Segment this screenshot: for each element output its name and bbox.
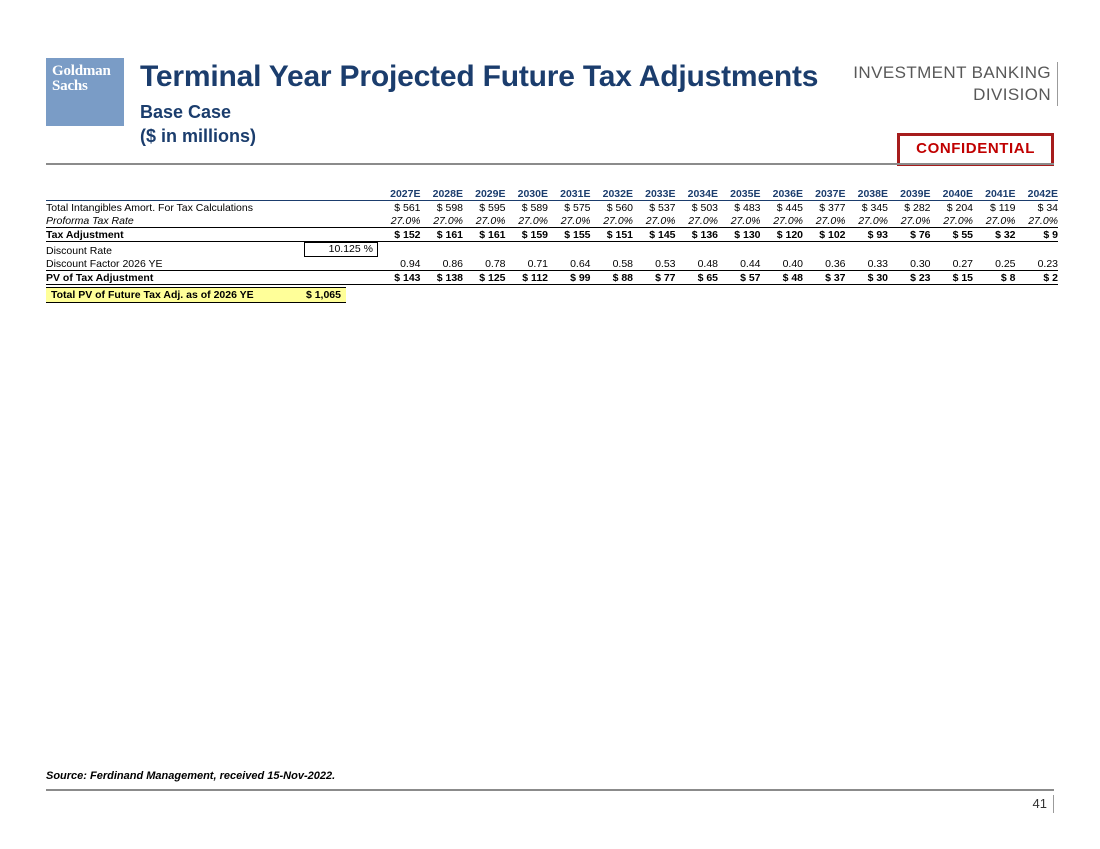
row-value: $ 152 bbox=[378, 228, 421, 242]
row-value bbox=[973, 242, 1016, 258]
row-value: $ 93 bbox=[846, 228, 889, 242]
row-value: 27.0% bbox=[931, 214, 974, 228]
row-value bbox=[1016, 242, 1059, 258]
division-label: INVESTMENT BANKING DIVISION bbox=[853, 62, 1058, 106]
row-value: $ 204 bbox=[931, 201, 974, 215]
row-label: Proforma Tax Rate bbox=[46, 214, 294, 228]
row-value: 0.78 bbox=[463, 257, 506, 271]
row-value: $ 136 bbox=[676, 228, 719, 242]
page-units-label: ($ in millions) bbox=[140, 124, 860, 148]
row-value: $ 88 bbox=[591, 271, 634, 285]
source-footnote: Source: Ferdinand Management, received 1… bbox=[46, 770, 335, 782]
row-input-spacer bbox=[294, 228, 378, 242]
tax-adjustment-table: 2027E 2028E 2029E 2030E 2031E 2032E 2033… bbox=[46, 188, 1058, 285]
column-header-year: 2033E bbox=[633, 188, 676, 201]
row-value: $ 9 bbox=[1016, 228, 1059, 242]
row-input-spacer bbox=[294, 201, 378, 215]
row-value: $ 445 bbox=[761, 201, 804, 215]
row-value bbox=[676, 242, 719, 258]
row-value: 0.40 bbox=[761, 257, 804, 271]
row-value: $ 30 bbox=[846, 271, 889, 285]
footer-divider bbox=[46, 789, 1054, 791]
page-subtitle: Base Case bbox=[140, 100, 860, 124]
table-header-row: 2027E 2028E 2029E 2030E 2031E 2032E 2033… bbox=[46, 188, 1058, 201]
row-value: 27.0% bbox=[718, 214, 761, 228]
row-value bbox=[761, 242, 804, 258]
confidential-label: CONFIDENTIAL bbox=[916, 140, 1035, 157]
row-value: 27.0% bbox=[506, 214, 549, 228]
row-value bbox=[633, 242, 676, 258]
row-value bbox=[803, 242, 846, 258]
row-value: 0.53 bbox=[633, 257, 676, 271]
row-value: $ 2 bbox=[1016, 271, 1059, 285]
row-value: 27.0% bbox=[633, 214, 676, 228]
column-header-year: 2030E bbox=[506, 188, 549, 201]
column-header-year: 2035E bbox=[718, 188, 761, 201]
column-header-year: 2028E bbox=[421, 188, 464, 201]
row-value: $ 377 bbox=[803, 201, 846, 215]
row-value: 0.30 bbox=[888, 257, 931, 271]
row-value: 0.44 bbox=[718, 257, 761, 271]
row-value bbox=[846, 242, 889, 258]
slide-header: Goldman Sachs Terminal Year Projected Fu… bbox=[0, 0, 1100, 170]
column-header-year: 2041E bbox=[973, 188, 1016, 201]
row-value: $ 143 bbox=[378, 271, 421, 285]
row-value: $ 282 bbox=[888, 201, 931, 215]
row-value bbox=[931, 242, 974, 258]
logo-text-line1: Goldman bbox=[46, 58, 124, 79]
column-header-year: 2036E bbox=[761, 188, 804, 201]
column-header-year: 2037E bbox=[803, 188, 846, 201]
header-spacer-label bbox=[46, 188, 294, 201]
column-header-year: 2038E bbox=[846, 188, 889, 201]
row-value: $ 112 bbox=[506, 271, 549, 285]
row-value: 0.25 bbox=[973, 257, 1016, 271]
row-value: $ 76 bbox=[888, 228, 931, 242]
row-value: 0.23 bbox=[1016, 257, 1059, 271]
division-line-1: INVESTMENT BANKING bbox=[853, 62, 1051, 84]
row-value: $ 55 bbox=[931, 228, 974, 242]
row-value bbox=[718, 242, 761, 258]
row-value: $ 155 bbox=[548, 228, 591, 242]
column-header-year: 2040E bbox=[931, 188, 974, 201]
header-divider bbox=[46, 163, 1054, 165]
row-value: $ 345 bbox=[846, 201, 889, 215]
row-value: $ 130 bbox=[718, 228, 761, 242]
column-header-year: 2039E bbox=[888, 188, 931, 201]
row-value: $ 99 bbox=[548, 271, 591, 285]
row-value: $ 125 bbox=[463, 271, 506, 285]
row-value: $ 151 bbox=[591, 228, 634, 242]
row-value: 27.0% bbox=[973, 214, 1016, 228]
row-value: $ 37 bbox=[803, 271, 846, 285]
column-header-year: 2029E bbox=[463, 188, 506, 201]
row-value: $ 483 bbox=[718, 201, 761, 215]
column-header-year: 2031E bbox=[548, 188, 591, 201]
row-value: 27.0% bbox=[803, 214, 846, 228]
division-line-2: DIVISION bbox=[853, 84, 1051, 106]
column-header-year: 2034E bbox=[676, 188, 719, 201]
row-value: $ 161 bbox=[421, 228, 464, 242]
row-value: 27.0% bbox=[888, 214, 931, 228]
row-value: 0.94 bbox=[378, 257, 421, 271]
row-label: Tax Adjustment bbox=[46, 228, 294, 242]
total-pv-summary-box: Total PV of Future Tax Adj. as of 2026 Y… bbox=[46, 287, 346, 303]
table-row: Total Intangibles Amort. For Tax Calcula… bbox=[46, 201, 1058, 215]
page-title: Terminal Year Projected Future Tax Adjus… bbox=[140, 60, 860, 94]
row-value bbox=[888, 242, 931, 258]
row-value: $ 161 bbox=[463, 228, 506, 242]
row-input-spacer bbox=[294, 271, 378, 285]
row-input-spacer bbox=[294, 257, 378, 271]
row-value bbox=[548, 242, 591, 258]
row-value: $ 34 bbox=[1016, 201, 1059, 215]
row-value: 0.64 bbox=[548, 257, 591, 271]
row-value: 0.48 bbox=[676, 257, 719, 271]
goldman-sachs-logo: Goldman Sachs bbox=[46, 58, 124, 126]
row-value: $ 77 bbox=[633, 271, 676, 285]
row-value: $ 65 bbox=[676, 271, 719, 285]
row-value: 27.0% bbox=[591, 214, 634, 228]
row-label: Total Intangibles Amort. For Tax Calcula… bbox=[46, 201, 294, 215]
row-value: $ 561 bbox=[378, 201, 421, 215]
row-value: $ 8 bbox=[973, 271, 1016, 285]
row-value: $ 145 bbox=[633, 228, 676, 242]
row-value bbox=[378, 242, 421, 258]
financial-table-container: 2027E 2028E 2029E 2030E 2031E 2032E 2033… bbox=[46, 188, 1058, 285]
row-value: 27.0% bbox=[761, 214, 804, 228]
discount-rate-input-cell: 10.125 % bbox=[294, 242, 378, 258]
row-value: $ 575 bbox=[548, 201, 591, 215]
row-value: 0.71 bbox=[506, 257, 549, 271]
row-value: $ 48 bbox=[761, 271, 804, 285]
logo-text-line2: Sachs bbox=[46, 79, 124, 94]
column-header-year: 2032E bbox=[591, 188, 634, 201]
total-pv-label: Total PV of Future Tax Adj. as of 2026 Y… bbox=[51, 288, 254, 302]
row-value: $ 23 bbox=[888, 271, 931, 285]
header-spacer-input bbox=[294, 188, 378, 201]
total-pv-value: $ 1,065 bbox=[306, 288, 341, 302]
row-value: 27.0% bbox=[421, 214, 464, 228]
row-value: 27.0% bbox=[548, 214, 591, 228]
row-value: 27.0% bbox=[1016, 214, 1059, 228]
confidential-badge: CONFIDENTIAL bbox=[897, 133, 1054, 166]
row-input-spacer bbox=[294, 214, 378, 228]
row-value: $ 595 bbox=[463, 201, 506, 215]
row-label: Discount Rate bbox=[46, 242, 294, 258]
row-value: 27.0% bbox=[676, 214, 719, 228]
row-value: $ 57 bbox=[718, 271, 761, 285]
table-row: Tax Adjustment $ 152 $ 161 $ 161 $ 159 $… bbox=[46, 228, 1058, 242]
row-value: $ 560 bbox=[591, 201, 634, 215]
row-value: $ 537 bbox=[633, 201, 676, 215]
table-row: Discount Factor 2026 YE 0.94 0.86 0.78 0… bbox=[46, 257, 1058, 271]
row-value bbox=[463, 242, 506, 258]
row-value: $ 32 bbox=[973, 228, 1016, 242]
row-value: 0.33 bbox=[846, 257, 889, 271]
row-value bbox=[591, 242, 634, 258]
row-label: Discount Factor 2026 YE bbox=[46, 257, 294, 271]
row-value: $ 138 bbox=[421, 271, 464, 285]
row-value: 0.58 bbox=[591, 257, 634, 271]
row-value: 27.0% bbox=[846, 214, 889, 228]
row-label: PV of Tax Adjustment bbox=[46, 271, 294, 285]
discount-rate-input[interactable]: 10.125 % bbox=[304, 242, 378, 257]
table-row: PV of Tax Adjustment $ 143 $ 138 $ 125 $… bbox=[46, 271, 1058, 285]
row-value: 27.0% bbox=[378, 214, 421, 228]
row-value: $ 15 bbox=[931, 271, 974, 285]
row-value: $ 503 bbox=[676, 201, 719, 215]
row-value: 0.86 bbox=[421, 257, 464, 271]
table-row-discount-rate: Discount Rate 10.125 % bbox=[46, 242, 1058, 258]
column-header-year: 2027E bbox=[378, 188, 421, 201]
row-value bbox=[421, 242, 464, 258]
row-value: 0.27 bbox=[931, 257, 974, 271]
row-value: $ 159 bbox=[506, 228, 549, 242]
page-number: 41 bbox=[1033, 795, 1054, 813]
row-value: $ 102 bbox=[803, 228, 846, 242]
row-value: $ 120 bbox=[761, 228, 804, 242]
title-block: Terminal Year Projected Future Tax Adjus… bbox=[140, 60, 860, 148]
row-value: $ 598 bbox=[421, 201, 464, 215]
row-value: 0.36 bbox=[803, 257, 846, 271]
row-value: $ 589 bbox=[506, 201, 549, 215]
row-value bbox=[506, 242, 549, 258]
row-value: 27.0% bbox=[463, 214, 506, 228]
column-header-year: 2042E bbox=[1016, 188, 1059, 201]
table-row: Proforma Tax Rate 27.0% 27.0% 27.0% 27.0… bbox=[46, 214, 1058, 228]
row-value: $ 119 bbox=[973, 201, 1016, 215]
